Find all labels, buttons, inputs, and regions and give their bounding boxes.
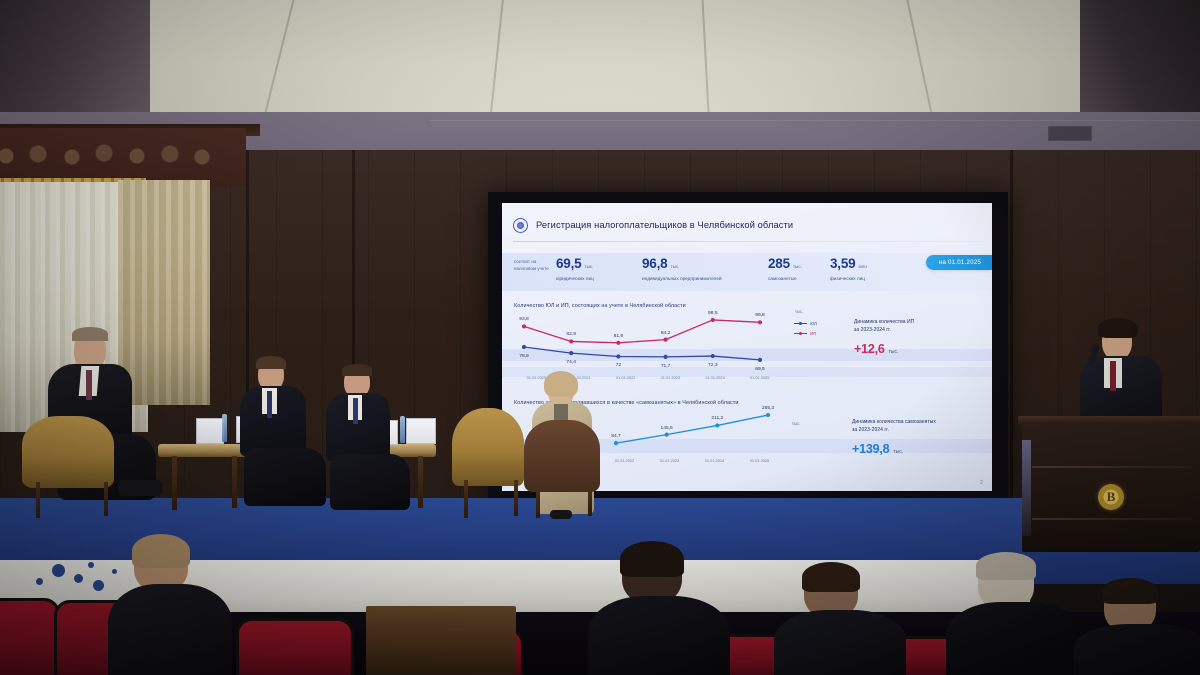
audience-member-5 <box>1082 582 1200 675</box>
ceiling <box>0 0 1200 118</box>
kpi-label: физических лиц <box>830 276 900 281</box>
data-point-label: 285,3 <box>762 406 774 411</box>
panelist-3 <box>322 366 428 521</box>
ceiling-left-shadow <box>0 0 150 122</box>
data-point-label: 78,9 <box>519 354 529 359</box>
data-point-label: 74,4 <box>566 360 576 365</box>
audience-member-1 <box>112 538 232 675</box>
chart1-plot <box>514 311 782 373</box>
slide-title: Регистрация налогоплательщиков в Челябин… <box>536 220 793 230</box>
data-point-label: 81,9 <box>614 334 624 339</box>
chart1-caption: Количество ЮЛ и ИП, состоящих на учете в… <box>514 303 686 309</box>
chart2-note-unit: тыс. <box>893 449 903 455</box>
kpi-legal-entities: 69,5 тыс. юридических лиц <box>556 254 642 281</box>
chart1-note-unit: тыс. <box>889 349 899 355</box>
kpi-label: юридических лиц <box>556 276 642 281</box>
kpi-value: 69,5 <box>556 256 581 271</box>
audience-member-4 <box>952 556 1078 675</box>
chart2-unit-label: тыс. <box>792 421 800 426</box>
kpi-value: 96,8 <box>642 256 667 271</box>
chart2-plot <box>602 413 782 455</box>
ceiling-right-shadow <box>1080 0 1200 120</box>
legend-swatch-ip <box>794 333 807 334</box>
kpi-unit: тыс. <box>793 264 802 269</box>
data-point-label: 72 <box>616 363 621 368</box>
chart1-note-line1: Динамика количества ИП <box>854 319 982 327</box>
conference-hall-scene: Регистрация налогоплательщиков в Челябин… <box>0 0 1200 675</box>
kpi-individual-entrepreneurs: 96,8 тыс. индивидуальных предпринимателе… <box>642 254 768 281</box>
axis-tick-label: 01.01.2024 <box>693 375 738 380</box>
legend-item-ip[interactable]: ИП <box>794 331 816 336</box>
carved-valance <box>0 128 246 186</box>
kpi-value: 3,59 <box>830 256 855 271</box>
axis-tick-label: 01.01.2025 <box>737 375 782 380</box>
data-point-label: 84,7 <box>611 434 621 439</box>
kpi-individuals: 3,59 млн физических лиц <box>830 254 900 281</box>
wooden-rail <box>366 606 516 675</box>
audience-member-2 <box>596 546 728 675</box>
kpi-value: 285 <box>768 256 790 271</box>
data-point-label: 84,2 <box>661 331 671 336</box>
chart2-note-line2: за 2023-2024 гг. <box>852 427 982 435</box>
kpi-lead-label: состоит на налоговом учете <box>514 254 556 272</box>
data-point-label: 211,2 <box>711 416 723 421</box>
axis-tick-label: 01.01.2023 <box>647 458 692 463</box>
panelist-1-chair <box>22 416 114 488</box>
kpi-unit: млн <box>858 264 866 269</box>
tax-service-emblem-icon <box>513 218 528 233</box>
axis-tick-label: 01.01.2024 <box>692 458 737 463</box>
panelist-4-chair <box>524 420 600 492</box>
chart2-axis-labels: 01.01.202201.01.202301.01.202401.01.2025 <box>602 458 782 463</box>
nameplate-1 <box>196 418 224 444</box>
axis-tick-label: 01.01.2025 <box>737 458 782 463</box>
data-point-label: 96,8 <box>755 313 765 318</box>
data-point-label: 82,9 <box>566 332 576 337</box>
chart2-note-value: +139,8 <box>852 442 889 456</box>
empty-chair <box>452 408 524 486</box>
axis-tick-label: 01.01.2022 <box>602 458 647 463</box>
legend-swatch-yul <box>794 323 807 324</box>
data-point-label: 98,5 <box>708 311 718 316</box>
kpi-unit: тыс. <box>584 264 593 269</box>
chart1-side-note: Динамика количества ИП за 2023-2024 гг. … <box>854 319 982 356</box>
kpi-self-employed: 285 тыс. самозанятые <box>768 254 830 281</box>
data-point-label: 145,5 <box>661 426 673 431</box>
kpi-unit: тыс. <box>670 264 679 269</box>
data-point-label: 69,5 <box>755 367 765 372</box>
chart2-note-line1: Динамика количества самозанятых <box>852 419 982 427</box>
audience-chair-3 <box>236 618 354 675</box>
kpi-label: самозанятые <box>768 276 830 281</box>
legend-label-ip: ИП <box>810 331 816 336</box>
legend-label-yul: ЮЛ <box>810 321 817 326</box>
chart1-note-line2: за 2023-2024 гг. <box>854 327 982 335</box>
data-point-label: 71,7 <box>661 364 671 369</box>
gold-crest-icon: B <box>1098 484 1124 510</box>
audience-member-3 <box>780 566 902 675</box>
kpi-row: состоит на налоговом учете 69,5 тыс. юри… <box>514 254 980 290</box>
kpi-label: индивидуальных предпринимателей <box>642 276 768 281</box>
water-bottle-1 <box>222 414 227 442</box>
slide-number: 2 <box>980 480 983 486</box>
chart1-unit-label: тыс. <box>795 309 803 314</box>
chart2-side-note: Динамика количества самозанятых за 2023-… <box>852 419 982 456</box>
data-point-label: 72,3 <box>708 363 718 368</box>
axis-tick-label: 01.01.2022 <box>603 375 648 380</box>
legend-item-yul[interactable]: ЮЛ <box>794 321 817 326</box>
chart1-note-value: +12,6 <box>854 342 885 356</box>
title-divider <box>513 241 982 242</box>
audience-chair-1 <box>0 598 60 675</box>
data-point-label: 93,8 <box>519 317 529 322</box>
date-badge: на 01.01.2025 <box>926 255 992 270</box>
axis-tick-label: 01.01.2023 <box>648 375 693 380</box>
slide-header: Регистрация налогоплательщиков в Челябин… <box>513 213 982 237</box>
podium-light-strip <box>1022 440 1031 536</box>
